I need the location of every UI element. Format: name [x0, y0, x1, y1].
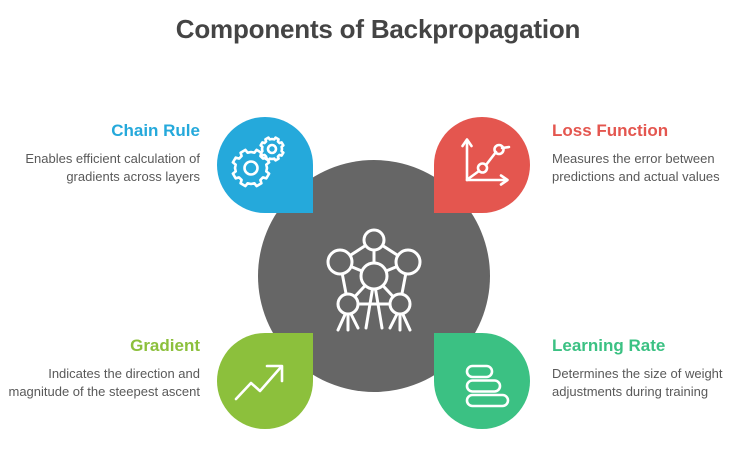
- line-chart-axes-icon: [455, 130, 517, 192]
- heading-gradient: Gradient: [0, 337, 200, 356]
- heading-chain-rule: Chain Rule: [0, 122, 200, 141]
- text-block-gradient: Gradient Indicates the direction and mag…: [0, 337, 200, 402]
- neural-network-icon: [316, 218, 432, 334]
- heading-loss-function: Loss Function: [552, 122, 752, 141]
- gears-icon: [229, 130, 291, 192]
- heading-learning-rate: Learning Rate: [552, 337, 752, 356]
- text-block-loss-function: Loss Function Measures the error between…: [552, 122, 752, 187]
- description-gradient: Indicates the direction and magnitude of…: [0, 365, 200, 402]
- description-loss-function: Measures the error between predictions a…: [552, 150, 752, 187]
- petal-gradient[interactable]: [217, 333, 313, 429]
- description-learning-rate: Determines the size of weight adjustment…: [552, 365, 752, 402]
- text-block-learning-rate: Learning Rate Determines the size of wei…: [552, 337, 752, 402]
- petal-loss-function[interactable]: [434, 117, 530, 213]
- trending-up-arrow-icon: [229, 354, 291, 416]
- text-block-chain-rule: Chain Rule Enables efficient calculation…: [0, 122, 200, 187]
- page-title: Components of Backpropagation: [0, 14, 756, 45]
- petal-learning-rate[interactable]: [434, 333, 530, 429]
- stacked-bars-icon: [455, 354, 517, 416]
- description-chain-rule: Enables efficient calculation of gradien…: [0, 150, 200, 187]
- petal-chain-rule[interactable]: [217, 117, 313, 213]
